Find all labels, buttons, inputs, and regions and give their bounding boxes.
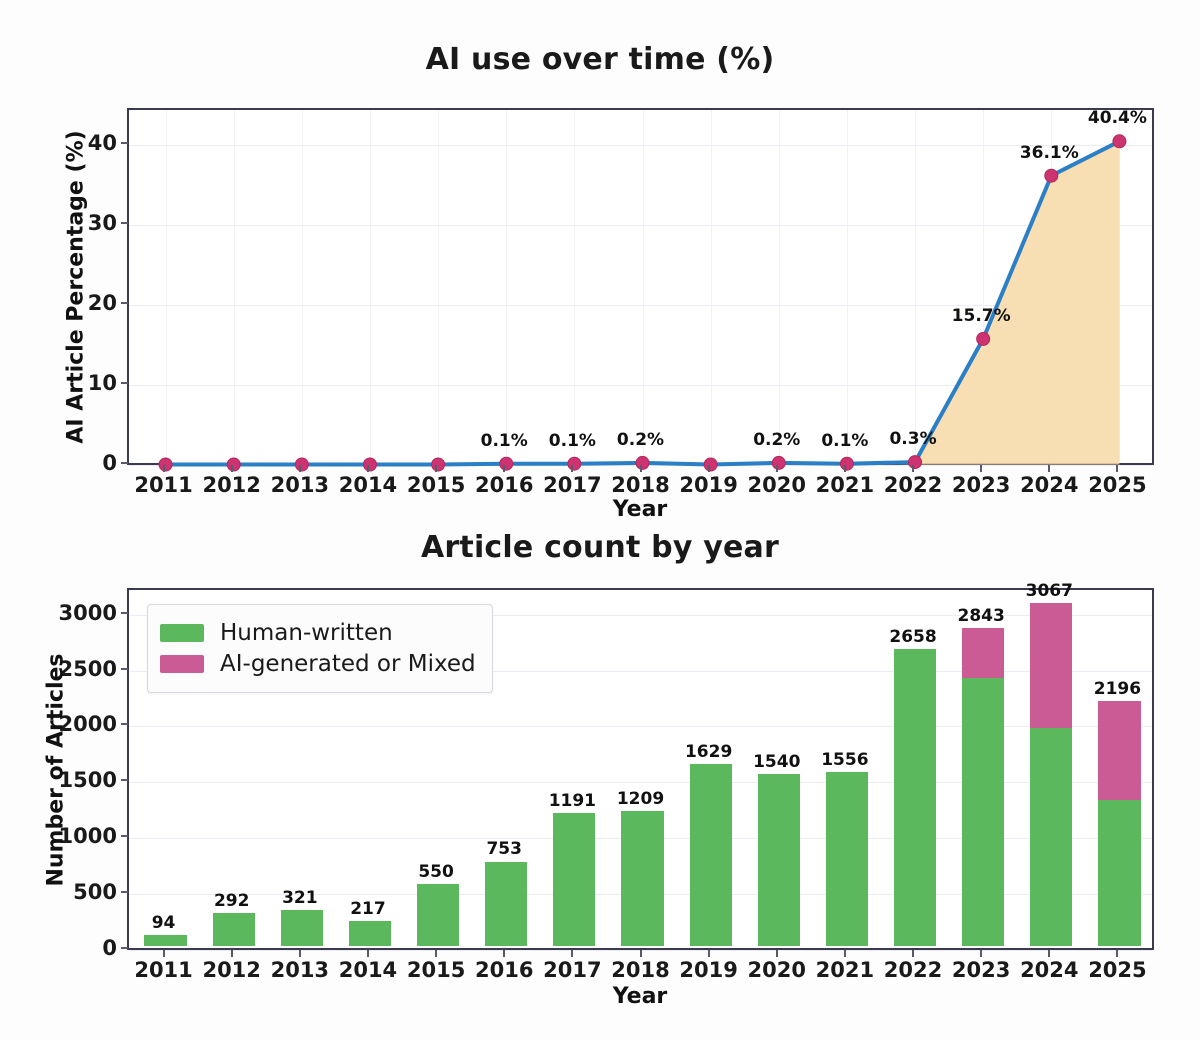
x-tick-label: 2011 <box>134 958 192 982</box>
x-tick-mark <box>1116 465 1118 472</box>
data-label: 753 <box>486 839 522 859</box>
y-tick-label: 0 <box>71 451 117 475</box>
bar-group[interactable] <box>1030 603 1072 945</box>
y-tick-mark <box>121 947 128 949</box>
x-tick-label: 2011 <box>134 473 192 497</box>
x-tick-mark <box>640 950 642 957</box>
x-tick-mark <box>503 950 505 957</box>
x-tick-label: 2019 <box>679 958 737 982</box>
bar-group[interactable] <box>213 913 255 946</box>
data-label: 40.4% <box>1088 108 1147 128</box>
bar-segment-human-written[interactable] <box>621 811 663 946</box>
data-label: 36.1% <box>1020 143 1079 163</box>
y-tick-mark <box>121 612 128 614</box>
x-tick-mark <box>231 950 233 957</box>
bar-group[interactable] <box>621 811 663 946</box>
x-tick-label: 2013 <box>271 958 329 982</box>
x-tick-mark <box>708 950 710 957</box>
bar-group[interactable] <box>553 813 595 946</box>
data-label: 0.1% <box>481 431 528 451</box>
y-tick-mark <box>121 779 128 781</box>
data-label: 94 <box>152 913 176 933</box>
y-tick-mark <box>121 891 128 893</box>
legend-label-ai-generated: AI-generated or Mixed <box>220 651 476 677</box>
bar-group[interactable] <box>144 935 186 945</box>
bar-segment-ai-generated[interactable] <box>962 628 1004 678</box>
x-tick-label: 2012 <box>202 958 260 982</box>
x-tick-mark <box>367 465 369 472</box>
bar-chart-x-axis-title: Year <box>613 984 668 1009</box>
x-tick-mark <box>163 465 165 472</box>
x-tick-mark <box>640 465 642 472</box>
bar-chart-y-axis-title: Number of Articles <box>44 653 69 886</box>
bar-segment-human-written[interactable] <box>1098 800 1140 946</box>
x-tick-label: 2016 <box>475 473 533 497</box>
x-tick-mark <box>776 950 778 957</box>
data-label: 217 <box>350 899 386 919</box>
x-tick-mark <box>980 465 982 472</box>
x-tick-mark <box>708 465 710 472</box>
x-tick-mark <box>435 465 437 472</box>
line-chart-title: AI use over time (%) <box>0 42 1200 77</box>
x-tick-label: 2018 <box>611 958 669 982</box>
x-tick-mark <box>231 465 233 472</box>
y-tick-mark <box>121 222 128 224</box>
x-tick-label: 2024 <box>1020 958 1078 982</box>
y-tick-mark <box>121 142 128 144</box>
x-tick-label: 2014 <box>339 473 397 497</box>
x-tick-label: 2021 <box>816 958 874 982</box>
bar-segment-human-written[interactable] <box>962 678 1004 945</box>
x-tick-label: 2015 <box>407 958 465 982</box>
bar-group[interactable] <box>485 862 527 946</box>
data-label: 550 <box>418 862 454 882</box>
data-label: 1540 <box>753 752 800 772</box>
bar-chart-title: Article count by year <box>0 530 1200 565</box>
y-tick-mark <box>121 835 128 837</box>
x-tick-mark <box>299 465 301 472</box>
data-label: 1629 <box>685 742 732 762</box>
x-tick-label: 2016 <box>475 958 533 982</box>
bar-group[interactable] <box>894 649 936 946</box>
x-tick-mark <box>844 465 846 472</box>
data-label: 292 <box>214 891 250 911</box>
x-tick-label: 2015 <box>407 473 465 497</box>
x-tick-label: 2019 <box>679 473 737 497</box>
x-tick-label: 2013 <box>271 473 329 497</box>
bar-segment-human-written[interactable] <box>213 913 255 946</box>
bar-segment-human-written[interactable] <box>281 910 323 946</box>
bar-segment-human-written[interactable] <box>894 649 936 946</box>
legend-label-human-written: Human-written <box>220 620 393 646</box>
x-tick-mark <box>299 950 301 957</box>
y-tick-mark <box>121 462 128 464</box>
bar-segment-human-written[interactable] <box>690 764 732 946</box>
data-label: 0.1% <box>549 431 596 451</box>
data-label: 3067 <box>1026 581 1073 601</box>
x-tick-mark <box>571 950 573 957</box>
bar-segment-human-written[interactable] <box>826 772 868 946</box>
x-tick-label: 2017 <box>543 958 601 982</box>
bar-segment-human-written[interactable] <box>485 862 527 946</box>
bar-group[interactable] <box>690 764 732 946</box>
x-tick-label: 2012 <box>202 473 260 497</box>
y-tick-mark <box>121 723 128 725</box>
legend-swatch-ai-generated-icon <box>160 655 204 673</box>
x-tick-mark <box>1116 950 1118 957</box>
bar-chart-plot-area: Human-written AI-generated or Mixed <box>127 588 1154 950</box>
line-chart-x-axis-title: Year <box>613 497 668 522</box>
x-tick-label: 2018 <box>611 473 669 497</box>
x-tick-label: 2020 <box>748 958 806 982</box>
x-tick-label: 2025 <box>1088 473 1146 497</box>
bar-group[interactable] <box>281 910 323 946</box>
x-tick-mark <box>1048 950 1050 957</box>
bar-group[interactable] <box>758 774 800 946</box>
bar-group[interactable] <box>962 628 1004 945</box>
line-chart-y-axis-title: AI Article Percentage (%) <box>64 130 89 443</box>
y-tick-mark <box>121 668 128 670</box>
bar-chart-legend: Human-written AI-generated or Mixed <box>147 604 493 693</box>
data-label: 1191 <box>549 791 596 811</box>
bar-group[interactable] <box>349 921 391 945</box>
x-tick-label: 2020 <box>748 473 806 497</box>
legend-item-human-written: Human-written <box>160 620 476 646</box>
bar-segment-ai-generated[interactable] <box>1030 603 1072 728</box>
line-chart-series <box>129 110 1152 463</box>
bar-group[interactable] <box>1098 701 1140 946</box>
figure-canvas: AI use over time (%) 010203040 201120122… <box>0 0 1200 1041</box>
bar-group[interactable] <box>826 772 868 946</box>
data-label: 0.3% <box>889 429 936 449</box>
y-tick-mark <box>121 302 128 304</box>
y-tick-mark <box>121 382 128 384</box>
bar-segment-human-written[interactable] <box>758 774 800 946</box>
line-chart-plot-area <box>127 108 1154 465</box>
x-tick-label: 2023 <box>952 473 1010 497</box>
x-tick-label: 2022 <box>884 473 942 497</box>
data-label: 321 <box>282 888 318 908</box>
data-label: 2658 <box>889 627 936 647</box>
x-tick-label: 2021 <box>816 473 874 497</box>
bar-group[interactable] <box>417 884 459 945</box>
data-label: 0.2% <box>617 430 664 450</box>
x-tick-mark <box>163 950 165 957</box>
x-tick-label: 2014 <box>339 958 397 982</box>
x-tick-mark <box>435 950 437 957</box>
legend-swatch-human-written-icon <box>160 624 204 642</box>
x-tick-mark <box>980 950 982 957</box>
y-tick-label: 3000 <box>35 601 117 625</box>
x-tick-mark <box>503 465 505 472</box>
bar-segment-human-written[interactable] <box>417 884 459 945</box>
data-label: 15.7% <box>952 306 1011 326</box>
x-tick-label: 2024 <box>1020 473 1078 497</box>
bar-segment-human-written[interactable] <box>553 813 595 946</box>
bar-segment-ai-generated[interactable] <box>1098 701 1140 800</box>
x-tick-label: 2022 <box>884 958 942 982</box>
data-label: 1556 <box>821 750 868 770</box>
x-tick-mark <box>912 465 914 472</box>
x-tick-mark <box>1048 465 1050 472</box>
x-tick-label: 2025 <box>1088 958 1146 982</box>
data-label: 2843 <box>957 606 1004 626</box>
x-tick-mark <box>367 950 369 957</box>
data-label: 2196 <box>1094 679 1141 699</box>
data-label: 0.1% <box>821 431 868 451</box>
x-tick-label: 2023 <box>952 958 1010 982</box>
data-label: 1209 <box>617 789 664 809</box>
x-tick-mark <box>571 465 573 472</box>
x-tick-label: 2017 <box>543 473 601 497</box>
data-label: 0.2% <box>753 430 800 450</box>
x-tick-mark <box>776 465 778 472</box>
y-tick-label: 0 <box>35 936 117 960</box>
x-tick-mark <box>844 950 846 957</box>
bar-segment-human-written[interactable] <box>1030 728 1072 946</box>
bar-segment-human-written[interactable] <box>144 935 186 945</box>
bar-segment-human-written[interactable] <box>349 921 391 945</box>
x-tick-mark <box>912 950 914 957</box>
legend-item-ai-generated: AI-generated or Mixed <box>160 651 476 677</box>
